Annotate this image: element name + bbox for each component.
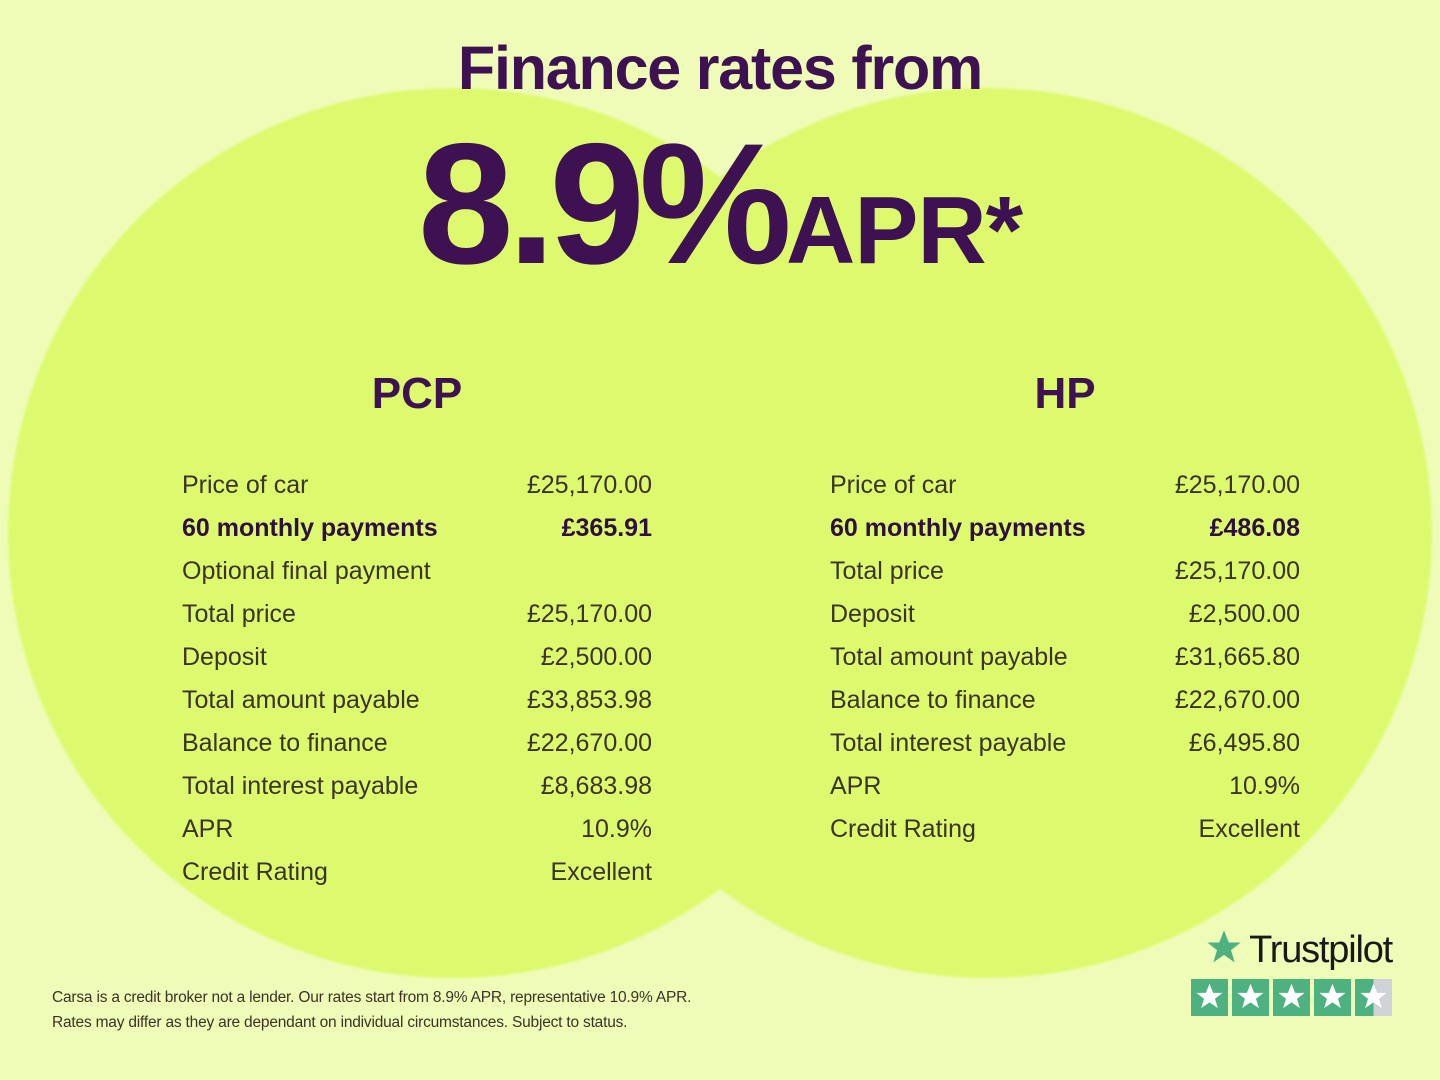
trustpilot-logo: Trustpilot <box>1184 928 1392 972</box>
finance-row-value: Excellent <box>1199 808 1300 851</box>
finance-row: Balance to finance£22,670.00 <box>182 722 652 765</box>
disclaimer-line-1: Carsa is a credit broker not a lender. O… <box>52 985 812 1010</box>
finance-row: Total price£25,170.00 <box>182 593 652 636</box>
finance-row-label: 60 monthly payments <box>182 507 438 550</box>
finance-row: Total amount payable£31,665.80 <box>830 636 1300 679</box>
finance-row-value: £22,670.00 <box>527 722 652 765</box>
finance-row-value: Excellent <box>551 851 652 894</box>
trustpilot-stars <box>1184 979 1392 1016</box>
finance-row: Balance to finance£22,670.00 <box>830 679 1300 722</box>
finance-row-value: £6,495.80 <box>1189 722 1300 765</box>
finance-rows-pcp: Price of car£25,170.0060 monthly payment… <box>182 464 652 894</box>
disclaimer-line-2: Rates may differ as they are dependant o… <box>52 1010 812 1035</box>
finance-rates-poster: Finance rates from 8.9%APR* PCP Price of… <box>0 0 1440 1080</box>
finance-row-label: 60 monthly payments <box>830 507 1086 550</box>
finance-row-value: £2,500.00 <box>1189 593 1300 636</box>
finance-row: Price of car£25,170.00 <box>830 464 1300 507</box>
finance-row-label: Credit Rating <box>830 808 976 851</box>
trustpilot-wordmark-text: Trustpilot <box>1249 931 1392 969</box>
finance-row: APR10.9% <box>182 808 652 851</box>
trustpilot-star-5 <box>1355 979 1392 1016</box>
finance-row-value: £25,170.00 <box>1175 550 1300 593</box>
finance-row: Optional final payment <box>182 550 652 593</box>
finance-row-label: Deposit <box>182 636 267 679</box>
finance-row-label: Total price <box>830 550 944 593</box>
disclaimer: Carsa is a credit broker not a lender. O… <box>52 985 812 1035</box>
trustpilot-star-2 <box>1232 979 1269 1016</box>
finance-row-value: £365.91 <box>562 507 652 550</box>
finance-row-value: £25,170.00 <box>527 464 652 507</box>
finance-row-value: £2,500.00 <box>541 636 652 679</box>
headline-rate: 8.9%APR* <box>0 118 1440 290</box>
finance-column-hp: HP Price of car£25,170.0060 monthly paym… <box>830 372 1300 851</box>
finance-row-value: 10.9% <box>1229 765 1300 808</box>
finance-row-label: Optional final payment <box>182 550 431 593</box>
trustpilot-star-3 <box>1273 979 1310 1016</box>
trustpilot-star-1 <box>1191 979 1228 1016</box>
headline-rate-suffix: APR* <box>786 177 1022 284</box>
finance-row-value: 10.9% <box>581 808 652 851</box>
finance-row: APR10.9% <box>830 765 1300 808</box>
trustpilot-star-icon <box>1203 928 1245 973</box>
finance-row-value: £22,670.00 <box>1175 679 1300 722</box>
finance-row: Total interest payable£8,683.98 <box>182 765 652 808</box>
headline-rate-value: 8.9% <box>418 108 786 300</box>
finance-row: Total amount payable£33,853.98 <box>182 679 652 722</box>
finance-row: 60 monthly payments£365.91 <box>182 507 652 550</box>
finance-row-value: £486.08 <box>1210 507 1300 550</box>
finance-row-label: Price of car <box>182 464 308 507</box>
finance-column-pcp: PCP Price of car£25,170.0060 monthly pay… <box>182 372 652 894</box>
finance-row-label: Total amount payable <box>830 636 1068 679</box>
finance-row-label: Price of car <box>830 464 956 507</box>
finance-row-label: Total interest payable <box>830 722 1066 765</box>
trustpilot-star-4 <box>1314 979 1351 1016</box>
finance-row-label: Credit Rating <box>182 851 328 894</box>
finance-row: Deposit£2,500.00 <box>830 593 1300 636</box>
finance-row-label: Total price <box>182 593 296 636</box>
finance-row: Credit RatingExcellent <box>182 851 652 894</box>
finance-row-value: £25,170.00 <box>1175 464 1300 507</box>
column-heading-pcp: PCP <box>182 372 652 416</box>
finance-row-label: Total amount payable <box>182 679 420 722</box>
finance-row-value: £25,170.00 <box>527 593 652 636</box>
finance-row-value: £33,853.98 <box>527 679 652 722</box>
finance-row: Total interest payable£6,495.80 <box>830 722 1300 765</box>
finance-row: Credit RatingExcellent <box>830 808 1300 851</box>
finance-row-label: APR <box>182 808 233 851</box>
finance-rows-hp: Price of car£25,170.0060 monthly payment… <box>830 464 1300 851</box>
finance-row-label: Balance to finance <box>182 722 388 765</box>
column-heading-hp: HP <box>830 372 1300 416</box>
page-title: Finance rates from <box>0 38 1440 99</box>
finance-row: 60 monthly payments£486.08 <box>830 507 1300 550</box>
finance-row-label: Total interest payable <box>182 765 418 808</box>
finance-row: Deposit£2,500.00 <box>182 636 652 679</box>
trustpilot-rating[interactable]: Trustpilot <box>1184 928 1392 1016</box>
finance-row: Total price£25,170.00 <box>830 550 1300 593</box>
finance-row-value: £31,665.80 <box>1175 636 1300 679</box>
finance-row-value: £8,683.98 <box>541 765 652 808</box>
finance-row-label: APR <box>830 765 881 808</box>
finance-row: Price of car£25,170.00 <box>182 464 652 507</box>
finance-row-label: Deposit <box>830 593 915 636</box>
finance-row-label: Balance to finance <box>830 679 1036 722</box>
